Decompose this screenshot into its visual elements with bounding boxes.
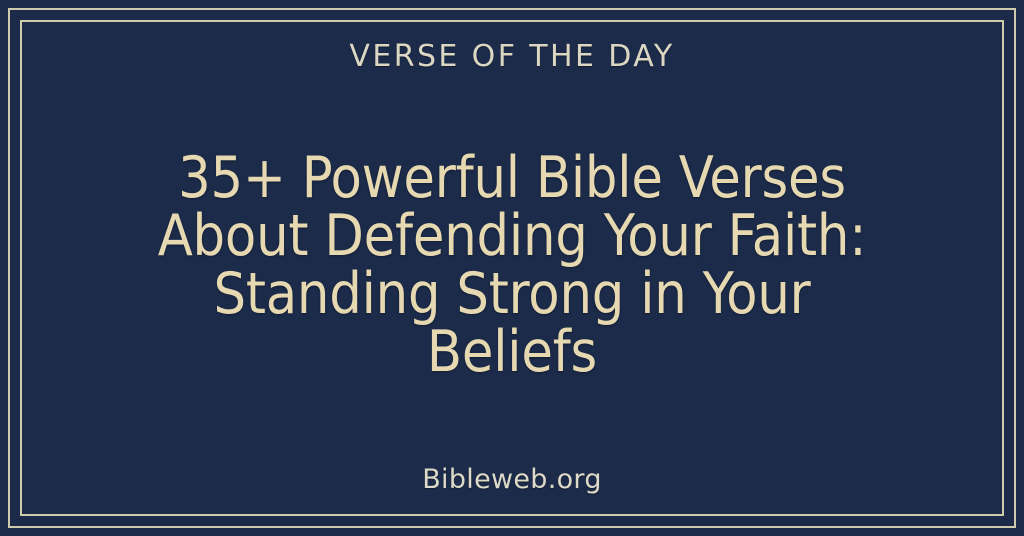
title-line-2: About Defending Your Faith: (82, 207, 942, 265)
title-line-4: Beliefs (82, 323, 942, 381)
card-content: VERSE OF THE DAY 35+ Powerful Bible Vers… (22, 22, 1002, 514)
page-title: 35+ Powerful Bible Verses About Defendin… (82, 149, 942, 381)
verse-of-the-day-card: VERSE OF THE DAY 35+ Powerful Bible Vers… (0, 0, 1024, 536)
title-line-1: 35+ Powerful Bible Verses (82, 149, 942, 207)
site-attribution: Bibleweb.org (422, 464, 602, 496)
title-line-3: Standing Strong in Your (82, 265, 942, 323)
title-block: 35+ Powerful Bible Verses About Defendin… (22, 65, 1002, 464)
